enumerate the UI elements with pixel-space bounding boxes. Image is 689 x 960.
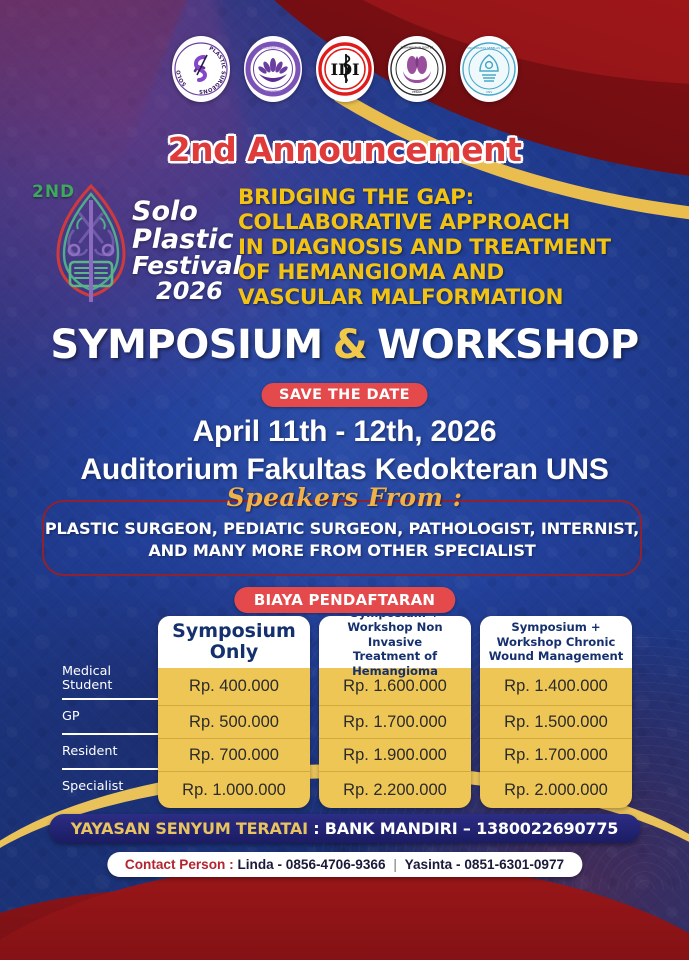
event-theme: BRIDGING THE GAP: COLLABORATIVE APPROACH… [238, 186, 678, 311]
pricing-column-workshop-chronic-wound: Symposium + Workshop Chronic Wound Manag… [480, 616, 632, 808]
price-cell: Rp. 1.900.000 [319, 739, 471, 772]
col3-head-line3: Wound Management [489, 649, 624, 663]
price-cell: Rp. 500.000 [158, 706, 310, 739]
svg-text:INDONESIA: INDONESIA [264, 89, 282, 93]
speakers-line-1: PLASTIC SURGEON, PEDIATIC SURGEON, PATHO… [42, 518, 642, 540]
announcement-heading: 2nd Announcement [0, 130, 689, 169]
price-cell: Rp. 700.000 [158, 739, 310, 772]
price-cell: Rp. 1.700.000 [319, 706, 471, 739]
col3-head-line2: Workshop Chronic [497, 635, 616, 649]
price-cell: Rp. 1.500.000 [480, 706, 632, 739]
column-header: Symposium + Workshop Non Invasive Treatm… [319, 616, 471, 668]
theme-line-5: VASCULAR MALFORMATION [238, 286, 678, 311]
event-date: April 11th - 12th, 2026 [0, 413, 689, 451]
contact-person-1[interactable]: Linda - 0856-4706-9366 [237, 857, 385, 872]
svg-text:PERHIMPUNAN DOKTER: PERHIMPUNAN DOKTER [400, 46, 433, 50]
organizer-logo-row: PLASTIC SURGEONS SOLO [0, 36, 689, 102]
price-cell: Rp. 1.400.000 [480, 668, 632, 706]
bank-organization: YAYASAN SENYUM TERATAI [71, 819, 308, 838]
event-logo-block: 2ND Solo Plas [24, 178, 224, 308]
perhimpunan-lotus-logo: PERHIMPUNAN INDONESIA [244, 36, 302, 102]
speakers-title: Speakers From : [215, 483, 475, 512]
svg-text:UNIVERSITAS SEBELAS MARET: UNIVERSITAS SEBELAS MARET [467, 46, 511, 50]
speakers-line-2: AND MANY MORE FROM OTHER SPECIALIST [42, 540, 642, 562]
perapi-logo: PERHIMPUNAN DOKTER PERAPI [388, 36, 446, 102]
row-label-specialist: Specialist [62, 770, 158, 803]
price-cell: Rp. 1.000.000 [158, 772, 310, 808]
format-workshop: WORKSHOP [377, 322, 639, 368]
poster-canvas: PLASTIC SURGEONS SOLO [0, 0, 689, 960]
row-label-resident: Resident [62, 735, 158, 770]
event-format-heading: SYMPOSIUM&WORKSHOP [0, 322, 689, 368]
festival-wordmark: Solo Plastic Festival 2026 [132, 198, 241, 303]
column-header: Symposium Only [158, 616, 310, 668]
format-symposium: SYMPOSIUM [50, 322, 322, 368]
price-cell: Rp. 1.700.000 [480, 739, 632, 772]
pricing-row-labels: Medical Student GP Resident Specialist [62, 616, 158, 808]
bank-account-detail: : BANK MANDIRI – 1380022690775 [313, 819, 618, 838]
contact-label: Contact Person : [125, 857, 234, 872]
price-cell: Rp. 400.000 [158, 668, 310, 706]
svg-text:PERHIMPUNAN: PERHIMPUNAN [261, 46, 283, 50]
row-label-gp: GP [62, 700, 158, 735]
col1-head-line2: Only [210, 641, 259, 663]
theme-line-3: IN DIAGNOSIS AND TREATMENT [238, 236, 678, 261]
svg-text:UNS: UNS [485, 90, 491, 94]
col3-head-line1: Symposium + [511, 620, 600, 634]
contact-person-badge: Contact Person : Linda - 0856-4706-9366 … [107, 852, 582, 877]
pricing-table: Medical Student GP Resident Specialist S… [62, 616, 632, 808]
pricing-column-workshop-non-invasive: Symposium + Workshop Non Invasive Treatm… [319, 616, 471, 808]
registration-fee-badge: BIAYA PENDAFTARAN [234, 587, 455, 613]
col2-head-line1: Symposium + [350, 616, 439, 620]
save-the-date-badge: SAVE THE DATE [261, 383, 428, 407]
uns-logo: UNIVERSITAS SEBELAS MARET UNS [460, 36, 518, 102]
price-cell: Rp. 2.200.000 [319, 772, 471, 808]
theme-line-4: OF HEMANGIOMA AND [238, 261, 678, 286]
format-ampersand: & [323, 322, 377, 368]
bank-account-badge: YAYASAN SENYUM TERATAI : BANK MANDIRI – … [49, 814, 640, 843]
festival-line-3: Festival [132, 253, 241, 279]
price-cell: Rp. 2.000.000 [480, 772, 632, 808]
gunungan-wayang-icon [52, 184, 130, 307]
speakers-list: PLASTIC SURGEON, PEDIATIC SURGEON, PATHO… [42, 518, 642, 562]
festival-line-4: 2026 [156, 279, 241, 303]
pricing-column-symposium-only: Symposium Only Rp. 400.000 Rp. 500.000 R… [158, 616, 310, 808]
row-label-medical-student: Medical Student [62, 660, 158, 700]
idi-logo: IDI [316, 36, 374, 102]
solo-plastic-surgeons-logo: PLASTIC SURGEONS SOLO [172, 36, 230, 102]
col2-head-line2: Workshop Non Invasive [347, 620, 442, 648]
col1-head-line1: Symposium [172, 620, 296, 642]
column-header: Symposium + Workshop Chronic Wound Manag… [480, 616, 632, 668]
festival-line-2: Plastic [132, 226, 241, 254]
svg-text:PERAPI: PERAPI [412, 90, 422, 94]
col2-head-line3: Treatment of Hemangioma [352, 649, 438, 677]
theme-line-2: COLLABORATIVE APPROACH [238, 211, 678, 236]
event-datetime-venue: April 11th - 12th, 2026 Auditorium Fakul… [0, 413, 689, 488]
theme-line-1: BRIDGING THE GAP: [238, 186, 678, 211]
festival-line-1: Solo [132, 198, 241, 226]
contact-person-2[interactable]: Yasinta - 0851-6301-0977 [405, 857, 564, 872]
contact-separator: | [393, 857, 397, 872]
